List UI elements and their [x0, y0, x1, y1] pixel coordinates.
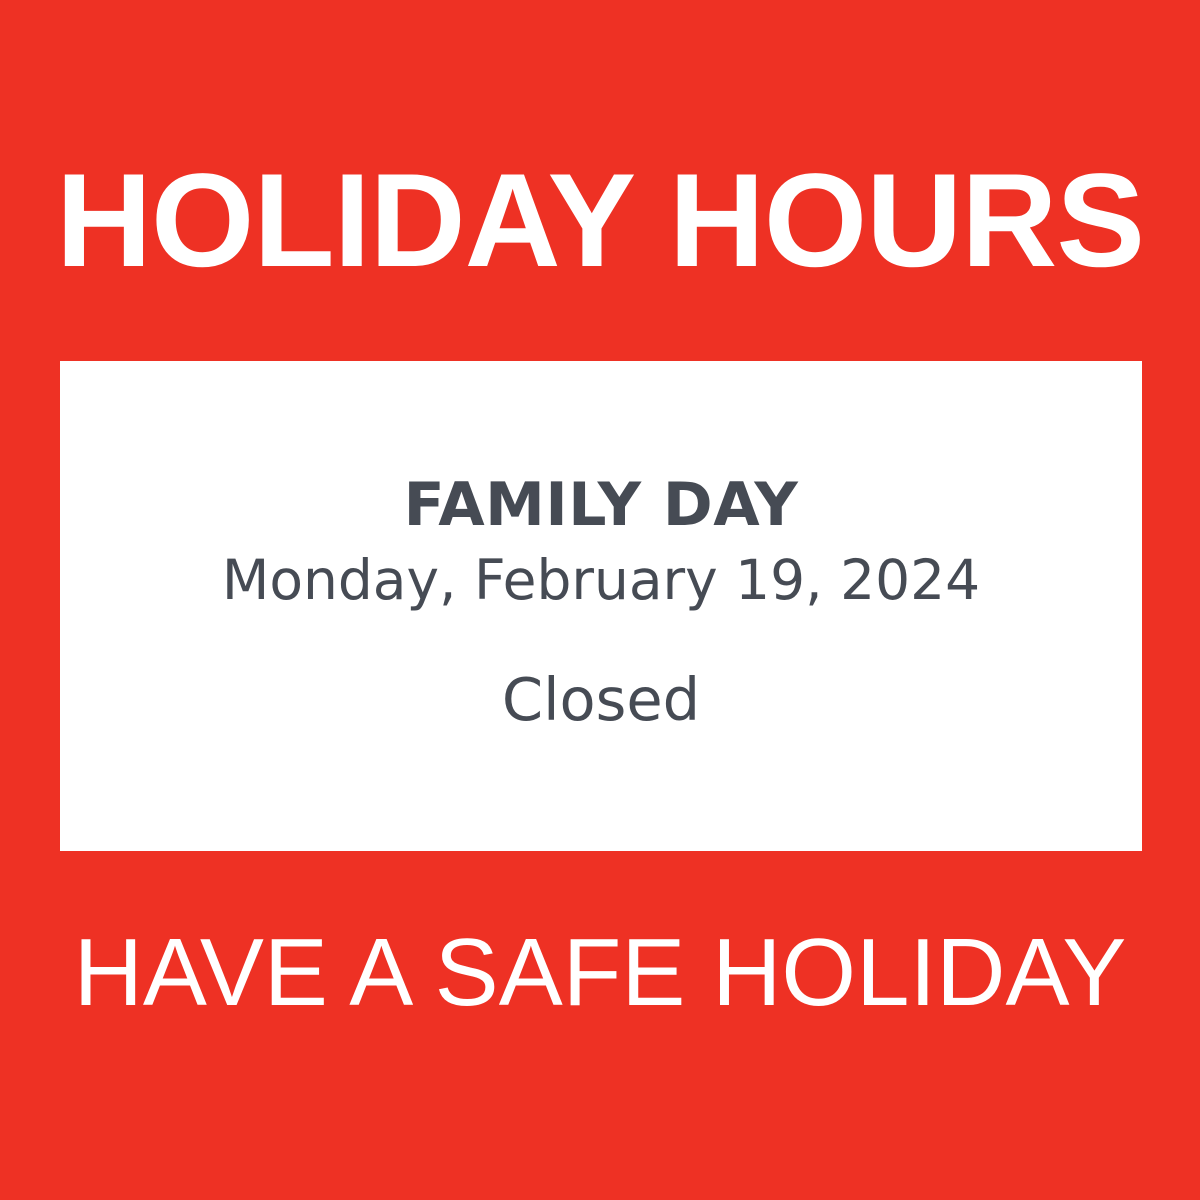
holiday-date: Monday, February 19, 2024	[60, 550, 1142, 612]
holiday-hours-notice: HOLIDAY HOURS FAMILY DAY Monday, Februar…	[0, 0, 1200, 1200]
page-title: HOLIDAY HOURS	[0, 155, 1200, 288]
holiday-name: FAMILY DAY	[60, 473, 1142, 538]
holiday-detail-card: FAMILY DAY Monday, February 19, 2024 Clo…	[60, 361, 1142, 851]
card-content: FAMILY DAY Monday, February 19, 2024 Clo…	[60, 473, 1142, 738]
footer-message: HAVE A SAFE HOLIDAY	[0, 925, 1200, 1021]
status-badge: Closed	[60, 668, 1142, 733]
